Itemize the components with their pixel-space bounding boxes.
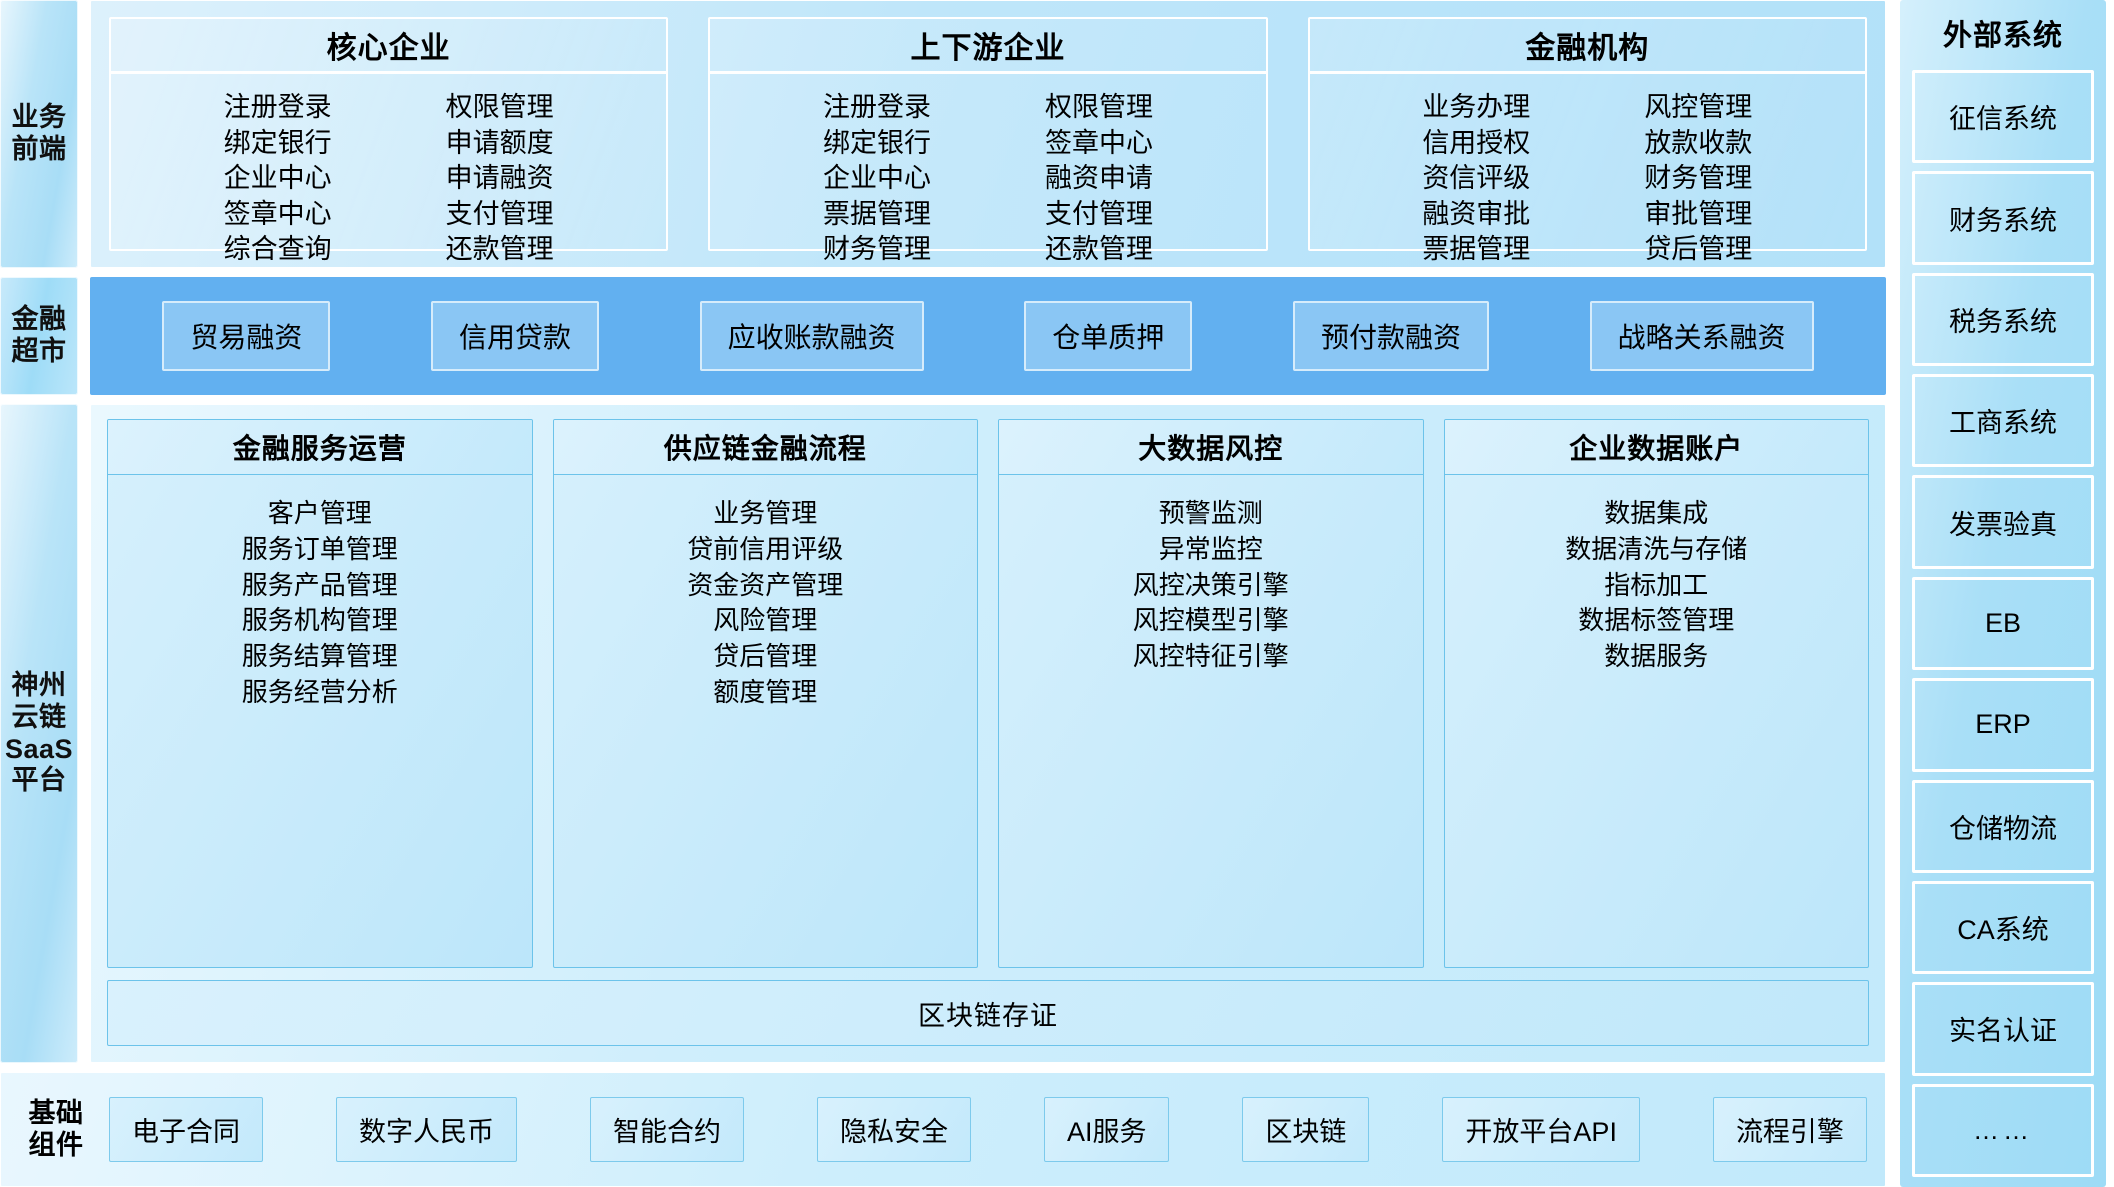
card-column-right: 风控管理 放款收款 财务管理 审批管理 贷后管理	[1623, 90, 1773, 267]
list-item[interactable]: 财务管理	[802, 232, 952, 267]
list-item[interactable]: 支付管理	[1024, 197, 1174, 232]
card-title: 上下游企业	[710, 19, 1265, 74]
external-system-erp[interactable]: ERP	[1912, 678, 2094, 771]
list-item[interactable]: 数据服务	[1604, 640, 1708, 674]
base-component-chips: 电子合同 数字人民币 智能合约 隐私安全 AI服务 区块链 开放平台API 流程…	[109, 1097, 1867, 1162]
card-column-right: 权限管理 签章中心 融资申请 支付管理 还款管理	[1024, 90, 1174, 267]
base-chip-ai-service[interactable]: AI服务	[1044, 1097, 1170, 1162]
front-end-card-core-enterprise[interactable]: 核心企业 注册登录 绑定银行 企业中心 签章中心 综合查询 权限管理 申请额度	[109, 17, 668, 251]
list-item[interactable]: 放款收款	[1623, 126, 1773, 161]
list-item[interactable]: 还款管理	[425, 232, 575, 267]
saas-card-supply-chain-finance-process[interactable]: 供应链金融流程 业务管理 贷前信用评级 资金资产管理 风险管理 贷后管理 额度管…	[553, 419, 979, 968]
list-item[interactable]: 贷前信用评级	[687, 533, 843, 567]
card-title: 金融机构	[1310, 19, 1865, 74]
list-item[interactable]: 数据标签管理	[1578, 604, 1734, 638]
list-item[interactable]: 绑定银行	[802, 126, 952, 161]
market-chip-trade-finance[interactable]: 贸易融资	[162, 301, 330, 371]
architecture-diagram: 业务 前端 核心企业 注册登录 绑定银行 企业中心 签章中心 综合查询	[0, 0, 2114, 1187]
card-item-list: 预警监测 异常监控 风控决策引擎 风控模型引擎 风控特征引擎	[999, 475, 1423, 967]
list-item[interactable]: 审批管理	[1623, 197, 1773, 232]
list-item[interactable]: 资信评级	[1401, 161, 1551, 196]
layer-label-front-end-line2: 前端	[12, 134, 67, 166]
list-item[interactable]: 申请额度	[425, 126, 575, 161]
list-item[interactable]: 服务机构管理	[242, 604, 398, 638]
market-chip-warehouse-receipt-pledge[interactable]: 仓单质押	[1024, 301, 1192, 371]
front-end-cards: 核心企业 注册登录 绑定银行 企业中心 签章中心 综合查询 权限管理 申请额度	[90, 0, 1886, 268]
list-item[interactable]: 综合查询	[203, 232, 353, 267]
external-system-warehouse-logistics[interactable]: 仓储物流	[1912, 780, 2094, 873]
external-system-eb[interactable]: EB	[1912, 577, 2094, 670]
card-column-left: 注册登录 绑定银行 企业中心 签章中心 综合查询	[203, 90, 353, 267]
layer-label-saas-line1: 神州	[5, 670, 73, 702]
list-item[interactable]: 预警监测	[1159, 497, 1263, 531]
list-item[interactable]: 资金资产管理	[687, 569, 843, 603]
external-system-finance[interactable]: 财务系统	[1912, 171, 2094, 264]
list-item[interactable]: 支付管理	[425, 197, 575, 232]
list-item[interactable]: 权限管理	[1024, 90, 1174, 125]
layer-label-front-end-line1: 业务	[12, 102, 67, 134]
main-column: 业务 前端 核心企业 注册登录 绑定银行 企业中心 签章中心 综合查询	[0, 0, 1886, 1187]
layer-financial-supermarket: 金融 超市 贸易融资 信用贷款 应收账款融资 仓单质押 预付款融资 战略关系融资	[0, 277, 1886, 395]
external-system-tax[interactable]: 税务系统	[1912, 273, 2094, 366]
list-item[interactable]: 财务管理	[1623, 161, 1773, 196]
layer-label-saas-line4: 平台	[5, 765, 73, 797]
card-title: 金融服务运营	[108, 420, 532, 475]
list-item[interactable]: 信用授权	[1401, 126, 1551, 161]
layer-label-saas-platform: 神州 云链 SaaS 平台	[0, 404, 78, 1063]
list-item[interactable]: 权限管理	[425, 90, 575, 125]
layer-front-end: 业务 前端 核心企业 注册登录 绑定银行 企业中心 签章中心 综合查询	[0, 0, 1886, 268]
list-item[interactable]: 额度管理	[713, 676, 817, 710]
base-chip-privacy-security[interactable]: 隐私安全	[817, 1097, 971, 1162]
base-chip-smart-contract[interactable]: 智能合约	[590, 1097, 744, 1162]
card-column-left: 业务办理 信用授权 资信评级 融资审批 票据管理	[1401, 90, 1551, 267]
card-column-left: 注册登录 绑定银行 企业中心 票据管理 财务管理	[802, 90, 952, 267]
layer-label-saas-line2: 云链	[5, 702, 73, 734]
layer-label-base-line2: 组件	[17, 1130, 95, 1162]
list-item[interactable]: 风控模型引擎	[1133, 604, 1289, 638]
list-item[interactable]: 贷后管理	[1623, 232, 1773, 267]
list-item[interactable]: 服务产品管理	[242, 569, 398, 603]
list-item[interactable]: 客户管理	[268, 497, 372, 531]
list-item[interactable]: 注册登录	[802, 90, 952, 125]
list-item[interactable]: 风险管理	[713, 604, 817, 638]
external-system-business-registration[interactable]: 工商系统	[1912, 374, 2094, 467]
front-end-card-upstream-downstream-enterprise[interactable]: 上下游企业 注册登录 绑定银行 企业中心 票据管理 财务管理 权限管理 签章中心	[708, 17, 1267, 251]
layer-label-base-line1: 基础	[17, 1098, 95, 1130]
list-item[interactable]: 服务订单管理	[242, 533, 398, 567]
layer-label-front-end: 业务 前端	[0, 0, 78, 268]
list-item[interactable]: 服务经营分析	[242, 676, 398, 710]
layer-base-components: 基础 组件 电子合同 数字人民币 智能合约 隐私安全 AI服务 区块链 开放平台…	[0, 1072, 1886, 1187]
list-item[interactable]: 数据清洗与存储	[1565, 533, 1747, 567]
layer-label-market-line2: 超市	[12, 336, 67, 368]
list-item[interactable]: 企业中心	[203, 161, 353, 196]
saas-card-big-data-risk-control[interactable]: 大数据风控 预警监测 异常监控 风控决策引擎 风控模型引擎 风控特征引擎	[998, 419, 1424, 968]
blockchain-evidence-bar[interactable]: 区块链存证	[107, 980, 1869, 1046]
list-item[interactable]: 票据管理	[802, 197, 952, 232]
base-chip-open-platform-api[interactable]: 开放平台API	[1442, 1097, 1640, 1162]
external-system-credit-reporting[interactable]: 征信系统	[1912, 70, 2094, 163]
list-item[interactable]: 注册登录	[203, 90, 353, 125]
market-chip-prepayment-finance[interactable]: 预付款融资	[1293, 301, 1489, 371]
base-chip-blockchain[interactable]: 区块链	[1242, 1097, 1369, 1162]
list-item[interactable]: 风控管理	[1623, 90, 1773, 125]
layer-label-saas-line3: SaaS	[5, 734, 73, 766]
card-item-list: 客户管理 服务订单管理 服务产品管理 服务机构管理 服务结算管理 服务经营分析	[108, 475, 532, 967]
base-components-body: 基础 组件 电子合同 数字人民币 智能合约 隐私安全 AI服务 区块链 开放平台…	[0, 1072, 1886, 1187]
list-item[interactable]: 异常监控	[1159, 533, 1263, 567]
front-end-card-financial-institution[interactable]: 金融机构 业务办理 信用授权 资信评级 融资审批 票据管理 风控管理 放款收款	[1308, 17, 1867, 251]
list-item[interactable]: 票据管理	[1401, 232, 1551, 267]
list-item[interactable]: 绑定银行	[203, 126, 353, 161]
layer-label-financial-supermarket: 金融 超市	[0, 277, 78, 395]
list-item[interactable]: 数据集成	[1604, 497, 1708, 531]
list-item[interactable]: 企业中心	[802, 161, 952, 196]
saas-platform-body: 金融服务运营 客户管理 服务订单管理 服务产品管理 服务机构管理 服务结算管理 …	[90, 404, 1886, 1063]
layer-saas-platform: 神州 云链 SaaS 平台 金融服务运营 客户管理 服务订单管理 服务产品管理	[0, 404, 1886, 1063]
list-item[interactable]: 融资申请	[1024, 161, 1174, 196]
list-item[interactable]: 风控特征引擎	[1133, 640, 1289, 674]
financial-supermarket-chips: 贸易融资 信用贷款 应收账款融资 仓单质押 预付款融资 战略关系融资	[90, 277, 1886, 395]
market-chip-strategic-relation-finance[interactable]: 战略关系融资	[1590, 301, 1814, 371]
list-item[interactable]: 贷后管理	[713, 640, 817, 674]
market-chip-credit-loan[interactable]: 信用贷款	[431, 301, 599, 371]
list-item[interactable]: 签章中心	[203, 197, 353, 232]
layer-label-base-components: 基础 组件	[17, 1098, 95, 1162]
external-system-invoice-verification[interactable]: 发票验真	[1912, 475, 2094, 568]
list-item[interactable]: 服务结算管理	[242, 640, 398, 674]
list-item[interactable]: 还款管理	[1024, 232, 1174, 267]
saas-card-enterprise-data-account[interactable]: 企业数据账户 数据集成 数据清洗与存储 指标加工 数据标签管理 数据服务	[1444, 419, 1870, 968]
card-columns: 注册登录 绑定银行 企业中心 票据管理 财务管理 权限管理 签章中心 融资申请 …	[710, 74, 1265, 275]
list-item[interactable]: 融资审批	[1401, 197, 1551, 232]
card-item-list: 数据集成 数据清洗与存储 指标加工 数据标签管理 数据服务	[1445, 475, 1869, 967]
external-systems-sidebar: 外部系统 征信系统 财务系统 税务系统 工商系统 发票验真 EB ERP 仓储物…	[1900, 0, 2106, 1187]
list-item[interactable]: 签章中心	[1024, 126, 1174, 161]
base-chip-process-engine[interactable]: 流程引擎	[1713, 1097, 1867, 1162]
base-chip-digital-rmb[interactable]: 数字人民币	[336, 1097, 517, 1162]
list-item[interactable]: 业务办理	[1401, 90, 1551, 125]
list-item[interactable]: 业务管理	[713, 497, 817, 531]
base-chip-electronic-contract[interactable]: 电子合同	[109, 1097, 263, 1162]
card-column-right: 权限管理 申请额度 申请融资 支付管理 还款管理	[425, 90, 575, 267]
card-title: 供应链金融流程	[554, 420, 978, 475]
saas-card-row: 金融服务运营 客户管理 服务订单管理 服务产品管理 服务机构管理 服务结算管理 …	[107, 419, 1869, 968]
list-item[interactable]: 申请融资	[425, 161, 575, 196]
card-title: 核心企业	[111, 19, 666, 74]
external-system-more[interactable]: ……	[1912, 1084, 2094, 1177]
external-system-real-name-authentication[interactable]: 实名认证	[1912, 982, 2094, 1075]
card-columns: 业务办理 信用授权 资信评级 融资审批 票据管理 风控管理 放款收款 财务管理 …	[1310, 74, 1865, 275]
card-title: 大数据风控	[999, 420, 1423, 475]
layer-label-market-line1: 金融	[12, 304, 67, 336]
card-title: 企业数据账户	[1445, 420, 1869, 475]
list-item[interactable]: 指标加工	[1604, 569, 1708, 603]
card-columns: 注册登录 绑定银行 企业中心 签章中心 综合查询 权限管理 申请额度 申请融资 …	[111, 74, 666, 275]
market-chip-receivables-finance[interactable]: 应收账款融资	[700, 301, 924, 371]
card-item-list: 业务管理 贷前信用评级 资金资产管理 风险管理 贷后管理 额度管理	[554, 475, 978, 967]
external-systems-title: 外部系统	[1943, 6, 2063, 62]
external-system-ca[interactable]: CA系统	[1912, 881, 2094, 974]
saas-card-financial-service-operation[interactable]: 金融服务运营 客户管理 服务订单管理 服务产品管理 服务机构管理 服务结算管理 …	[107, 419, 533, 968]
list-item[interactable]: 风控决策引擎	[1133, 569, 1289, 603]
